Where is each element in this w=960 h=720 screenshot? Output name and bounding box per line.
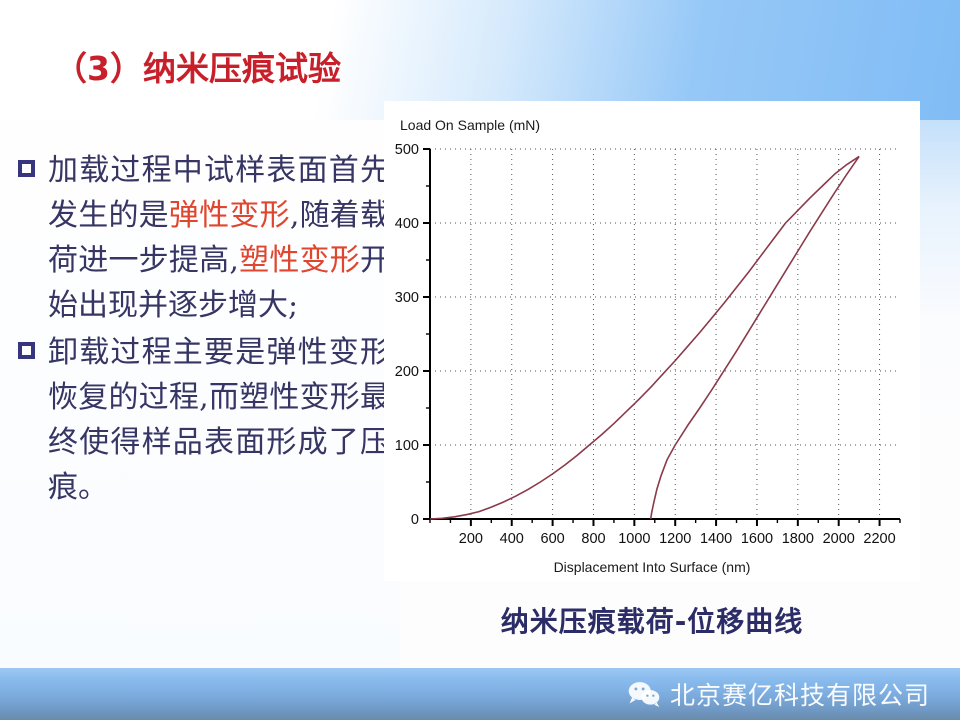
chart-caption: 纳米压痕载荷-位移曲线 [384,600,920,640]
svg-text:400: 400 [500,531,524,547]
wechat-icon [627,680,661,708]
list-item: 卸载过程主要是弹性变形恢复的过程,而塑性变形最终使得样品表面形成了压痕。 [18,330,390,510]
svg-text:1800: 1800 [782,531,814,547]
svg-text:2200: 2200 [863,531,895,547]
chart-x-axis-label: Displacement Into Surface (nm) [384,559,920,575]
svg-text:1200: 1200 [659,531,691,547]
svg-text:200: 200 [395,364,419,380]
svg-text:100: 100 [395,438,419,454]
svg-text:1000: 1000 [618,531,650,547]
svg-text:800: 800 [581,531,605,547]
footer-company-name: 北京赛亿科技有限公司 [670,676,930,712]
bullet-segment-highlight: 塑性变形 [239,243,360,278]
slide-canvas: （3）纳米压痕试验 加载过程中试样表面首先发生的是弹性变形,随着载荷进一步提高,… [0,0,960,720]
bullet-list: 加载过程中试样表面首先发生的是弹性变形,随着载荷进一步提高,塑性变形开始出现并逐… [18,148,390,512]
svg-text:1600: 1600 [741,531,773,547]
svg-text:300: 300 [395,290,419,306]
bullet-text-1: 加载过程中试样表面首先发生的是弹性变形,随着载荷进一步提高,塑性变形开始出现并逐… [48,148,390,328]
list-item: 加载过程中试样表面首先发生的是弹性变形,随着载荷进一步提高,塑性变形开始出现并逐… [18,148,390,328]
page-title: （3）纳米压痕试验 [54,42,341,90]
svg-text:0: 0 [411,512,419,528]
footer-bar: 北京赛亿科技有限公司 [0,668,960,720]
footer-watermark: 北京赛亿科技有限公司 [627,676,930,712]
bullet-segment-highlight: 弹性变形 [169,198,290,233]
load-displacement-chart: 2004006008001000120014001600180020002200… [384,101,920,581]
svg-text:600: 600 [541,531,565,547]
chart-panel: Load On Sample (mN) 20040060080010001200… [384,101,920,581]
square-bullet-icon [18,342,35,359]
svg-text:1400: 1400 [700,531,732,547]
square-bullet-icon [18,160,35,177]
svg-text:2000: 2000 [823,531,855,547]
svg-text:500: 500 [395,142,419,158]
bullet-segment: 卸载过程主要是弹性变形恢复的过程,而塑性变形最终使得样品表面形成了压痕。 [48,335,390,505]
svg-text:400: 400 [395,216,419,232]
bullet-text-2: 卸载过程主要是弹性变形恢复的过程,而塑性变形最终使得样品表面形成了压痕。 [48,330,390,510]
svg-text:200: 200 [459,531,483,547]
